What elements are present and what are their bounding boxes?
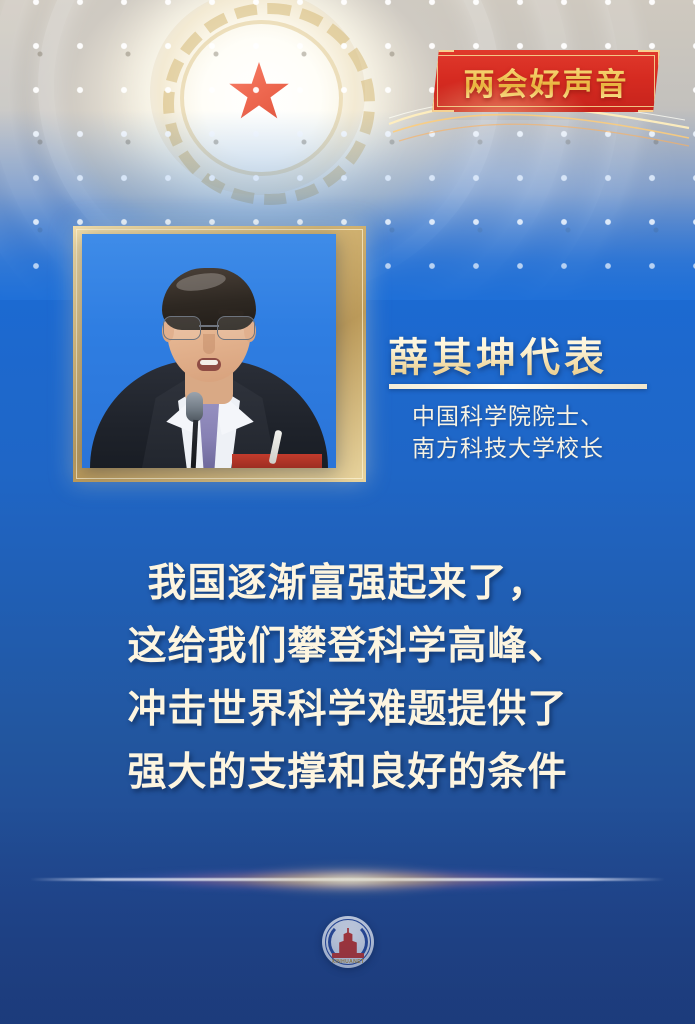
speaker-titles: 中国科学院院士、 南方科技大学校长 bbox=[412, 400, 682, 464]
speaker-title-line-1: 中国科学院院士、 bbox=[412, 400, 682, 432]
program-banner: 两会好声音 bbox=[424, 46, 664, 120]
glasses-lens-right bbox=[217, 316, 255, 340]
logo-caption: XINHUANET bbox=[322, 959, 374, 965]
quote-line-1: 我国逐渐富强起来了， bbox=[0, 552, 695, 615]
name-divider-rule bbox=[389, 384, 647, 389]
logo-base-bar bbox=[332, 953, 364, 958]
glasses-bridge bbox=[199, 325, 219, 327]
speaker-title-line-2: 南方科技大学校长 bbox=[412, 432, 682, 464]
xinhua-logo-icon: XINHUANET bbox=[322, 916, 374, 968]
microphone-icon bbox=[186, 392, 203, 422]
glasses-lens-left bbox=[163, 316, 201, 340]
bottom-vignette bbox=[0, 804, 695, 1024]
portrait-nose bbox=[203, 334, 215, 354]
poster-root: 两会好声音 薛其坤代表 中国科学院院士、 bbox=[0, 0, 695, 1024]
speaker-name: 薛其坤代表 bbox=[388, 325, 608, 383]
banner-title: 两会好声音 bbox=[432, 50, 660, 112]
quote-block: 我国逐渐富强起来了， 这给我们攀登科学高峰、 冲击世界科学难题提供了 强大的支撑… bbox=[0, 552, 695, 804]
light-streak-divider bbox=[0, 862, 695, 898]
portrait-mouth bbox=[197, 358, 221, 371]
speaker-photo bbox=[82, 234, 336, 468]
quote-line-3: 冲击世界科学难题提供了 bbox=[0, 678, 695, 741]
streak-center-halo bbox=[230, 864, 470, 896]
quote-line-2: 这给我们攀登科学高峰、 bbox=[0, 615, 695, 678]
quote-line-4: 强大的支撑和良好的条件 bbox=[0, 741, 695, 804]
banner-plate: 两会好声音 bbox=[432, 50, 660, 112]
